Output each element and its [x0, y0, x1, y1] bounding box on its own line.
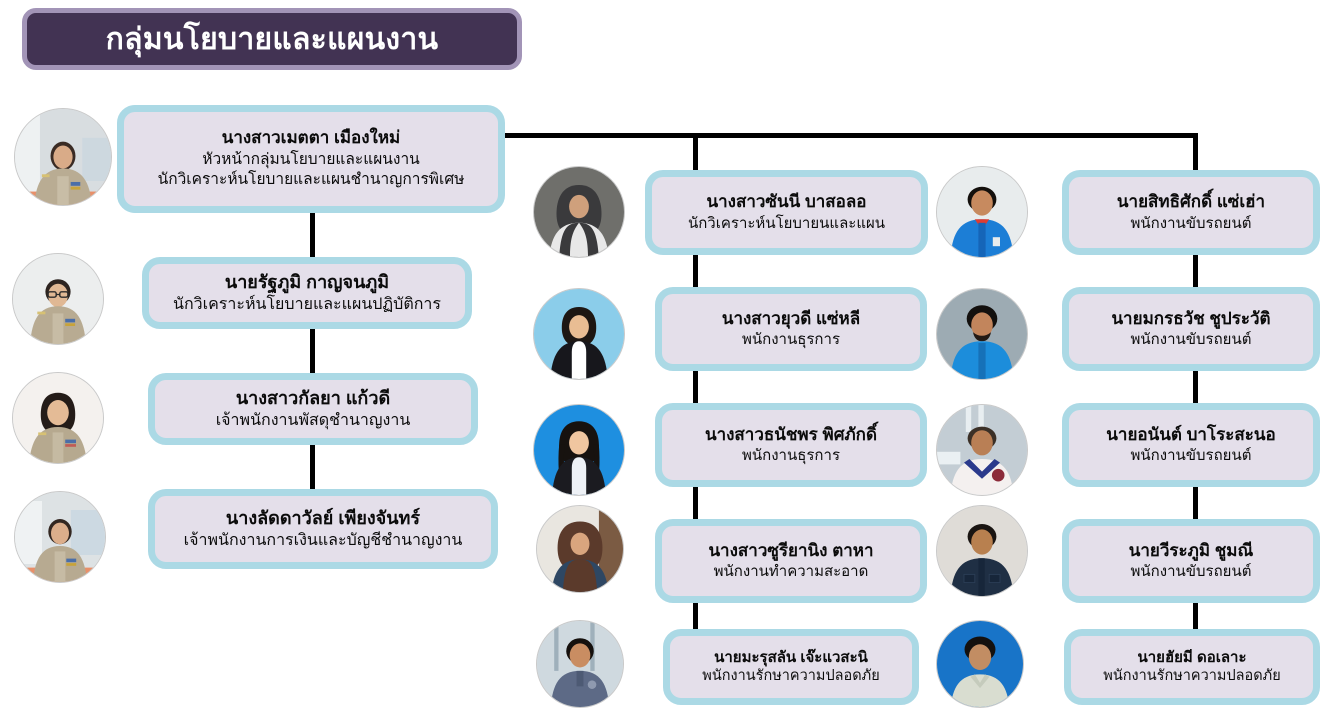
- card-left-1-position: นักวิเคราะห์นโยบายและแผนปฏิบัติการ: [173, 294, 441, 315]
- card-lead[interactable]: นางสาวเมตตา เมืองใหม่ หัวหน้ากลุ่มนโยบาย…: [117, 105, 505, 213]
- card-right-2-name: นายมกรธวัช ชูประวัติ: [1111, 308, 1270, 330]
- card-middle-2-position: พนักงานธุรการ: [742, 330, 840, 350]
- avatar-middle-2: [533, 288, 625, 380]
- card-middle-3[interactable]: นางสาวธนัชพร พิศภักดิ์ พนักงานธุรการ: [655, 403, 927, 487]
- card-right-5-position: พนักงานรักษาความปลอดภัย: [1103, 667, 1280, 686]
- page-title: กลุ่มนโยบายและแผนงาน: [106, 23, 439, 56]
- card-left-1[interactable]: นายรัฐภูมิ กาญจนภูมิ นักวิเคราะห์นโยบายแ…: [142, 257, 472, 329]
- connector-horizontal-trunk: [500, 133, 1198, 138]
- avatar-left-2: [12, 372, 104, 464]
- avatar-middle-5: [536, 620, 624, 708]
- card-middle-5-name: นายมะรุสลัน เจ๊ะแวสะนิ: [714, 648, 868, 668]
- avatar-left-1: [12, 253, 104, 345]
- card-middle-1-position: นักวิเคราะห์นโยบายนและแผน: [688, 214, 885, 234]
- card-middle-1-name: นางสาวซันนี บาสอลอ: [707, 191, 867, 213]
- avatar-right-5: [936, 620, 1024, 708]
- avatar-middle-5-image: [537, 621, 623, 707]
- card-left-3-position: เจ้าพนักงานการเงินและบัญชีชำนาญงาน: [184, 530, 463, 551]
- avatar-right-3-image: [937, 405, 1027, 495]
- connector-middle1-to-middle2: [693, 255, 698, 287]
- card-right-1-name: นายสิทธิศักดิ์ แซ่เฮ่า: [1117, 191, 1265, 213]
- connector-right1-to-right2: [1193, 255, 1198, 287]
- card-middle-4[interactable]: นางสาวซูรียานิง ตาหา พนักงานทำความสะอาด: [655, 519, 927, 603]
- connector-right3-to-right4: [1193, 487, 1198, 519]
- card-middle-2-name: นางสาวยุวดี แซ่หลี: [722, 308, 860, 330]
- avatar-left-3: [14, 491, 106, 583]
- avatar-middle-2-image: [534, 289, 624, 379]
- card-middle-3-position: พนักงานธุรการ: [742, 446, 840, 466]
- card-lead-position: หัวหน้ากลุ่มนโยบายและแผนงาน: [202, 150, 420, 170]
- card-right-4[interactable]: นายวีระภูมิ ชูมณี พนักงานขับรถยนต์: [1062, 519, 1320, 603]
- card-right-4-name: นายวีระภูมิ ชูมณี: [1129, 540, 1254, 562]
- card-right-3[interactable]: นายอนันต์ บาโระสะนอ พนักงานขับรถยนต์: [1062, 403, 1320, 487]
- card-right-5-name: นายฮัยมี ดอเลาะ: [1137, 648, 1246, 668]
- avatar-right-4: [936, 505, 1028, 597]
- card-right-2[interactable]: นายมกรธวัช ชูประวัติ พนักงานขับรถยนต์: [1062, 287, 1320, 371]
- card-middle-1[interactable]: นางสาวซันนี บาสอลอ นักวิเคราะห์นโยบายนแล…: [645, 170, 928, 255]
- card-left-3-name: นางลัดดาวัลย์ เพียงจันทร์: [226, 507, 420, 531]
- card-left-2-name: นางสาวกัลยา แก้วดี: [236, 387, 390, 411]
- avatar-right-5-image: [937, 621, 1023, 707]
- avatar-left-1-image: [13, 254, 103, 344]
- avatar-left-2-image: [13, 373, 103, 463]
- avatar-right-2-image: [937, 289, 1027, 379]
- card-middle-4-position: พนักงานทำความสะอาด: [714, 562, 869, 582]
- card-middle-5-position: พนักงานรักษาความปลอดภัย: [702, 667, 879, 686]
- card-right-1-position: พนักงานขับรถยนต์: [1131, 214, 1252, 234]
- connector-middle3-to-middle4: [693, 487, 698, 519]
- avatar-left-3-image: [15, 492, 105, 582]
- card-left-1-name: นายรัฐภูมิ กาญจนภูมิ: [225, 271, 389, 295]
- card-middle-4-name: นางสาวซูรียานิง ตาหา: [708, 540, 873, 562]
- card-middle-2[interactable]: นางสาวยุวดี แซ่หลี พนักงานธุรการ: [655, 287, 927, 371]
- department-header-banner: กลุ่มนโยบายและแผนงาน: [22, 8, 522, 70]
- org-chart-canvas: กลุ่มนโยบายและแผนงาน นางส: [0, 0, 1323, 720]
- card-middle-3-name: นางสาวธนัชพร พิศภักดิ์: [705, 424, 877, 446]
- connector-left2-to-left3: [310, 445, 315, 489]
- card-right-5[interactable]: นายฮัยมี ดอเลาะ พนักงานรักษาความปลอดภัย: [1064, 629, 1320, 705]
- card-right-2-position: พนักงานขับรถยนต์: [1131, 330, 1252, 350]
- connector-left1-to-left2: [310, 329, 315, 373]
- card-left-3[interactable]: นางลัดดาวัลย์ เพียงจันทร์ เจ้าพนักงานการ…: [148, 489, 498, 569]
- card-right-3-position: พนักงานขับรถยนต์: [1131, 446, 1252, 466]
- card-middle-5[interactable]: นายมะรุสลัน เจ๊ะแวสะนิ พนักงานรักษาความป…: [663, 629, 919, 705]
- connector-trunk-to-middle: [693, 133, 698, 173]
- avatar-middle-4-image: [537, 506, 623, 592]
- avatar-middle-3: [533, 404, 625, 496]
- card-left-2[interactable]: นางสาวกัลยา แก้วดี เจ้าพนักงานพัสดุชำนาญ…: [148, 373, 478, 445]
- avatar-right-3: [936, 404, 1028, 496]
- card-right-1[interactable]: นายสิทธิศักดิ์ แซ่เฮ่า พนักงานขับรถยนต์: [1062, 170, 1320, 255]
- connector-trunk-to-right: [1193, 133, 1198, 173]
- avatar-right-2: [936, 288, 1028, 380]
- card-right-3-name: นายอนันต์ บาโระสะนอ: [1106, 424, 1275, 446]
- card-left-2-position: เจ้าพนักงานพัสดุชำนาญงาน: [216, 410, 411, 431]
- connector-right2-to-right3: [1193, 371, 1198, 403]
- avatar-lead: [14, 108, 112, 206]
- card-right-4-position: พนักงานขับรถยนต์: [1131, 562, 1252, 582]
- avatar-middle-3-image: [534, 405, 624, 495]
- avatar-lead-image: [15, 109, 111, 205]
- avatar-right-4-image: [937, 506, 1027, 596]
- avatar-right-1-image: [937, 167, 1027, 257]
- connector-lead-to-left1: [310, 213, 315, 257]
- avatar-middle-1-image: [534, 167, 624, 257]
- avatar-middle-1: [533, 166, 625, 258]
- connector-middle2-to-middle3: [693, 371, 698, 403]
- card-lead-name: นางสาวเมตตา เมืองใหม่: [222, 127, 401, 149]
- avatar-right-1: [936, 166, 1028, 258]
- card-lead-position-secondary: นักวิเคราะห์นโยบายและแผนชำนาญการพิเศษ: [158, 170, 465, 190]
- avatar-middle-4: [536, 505, 624, 593]
